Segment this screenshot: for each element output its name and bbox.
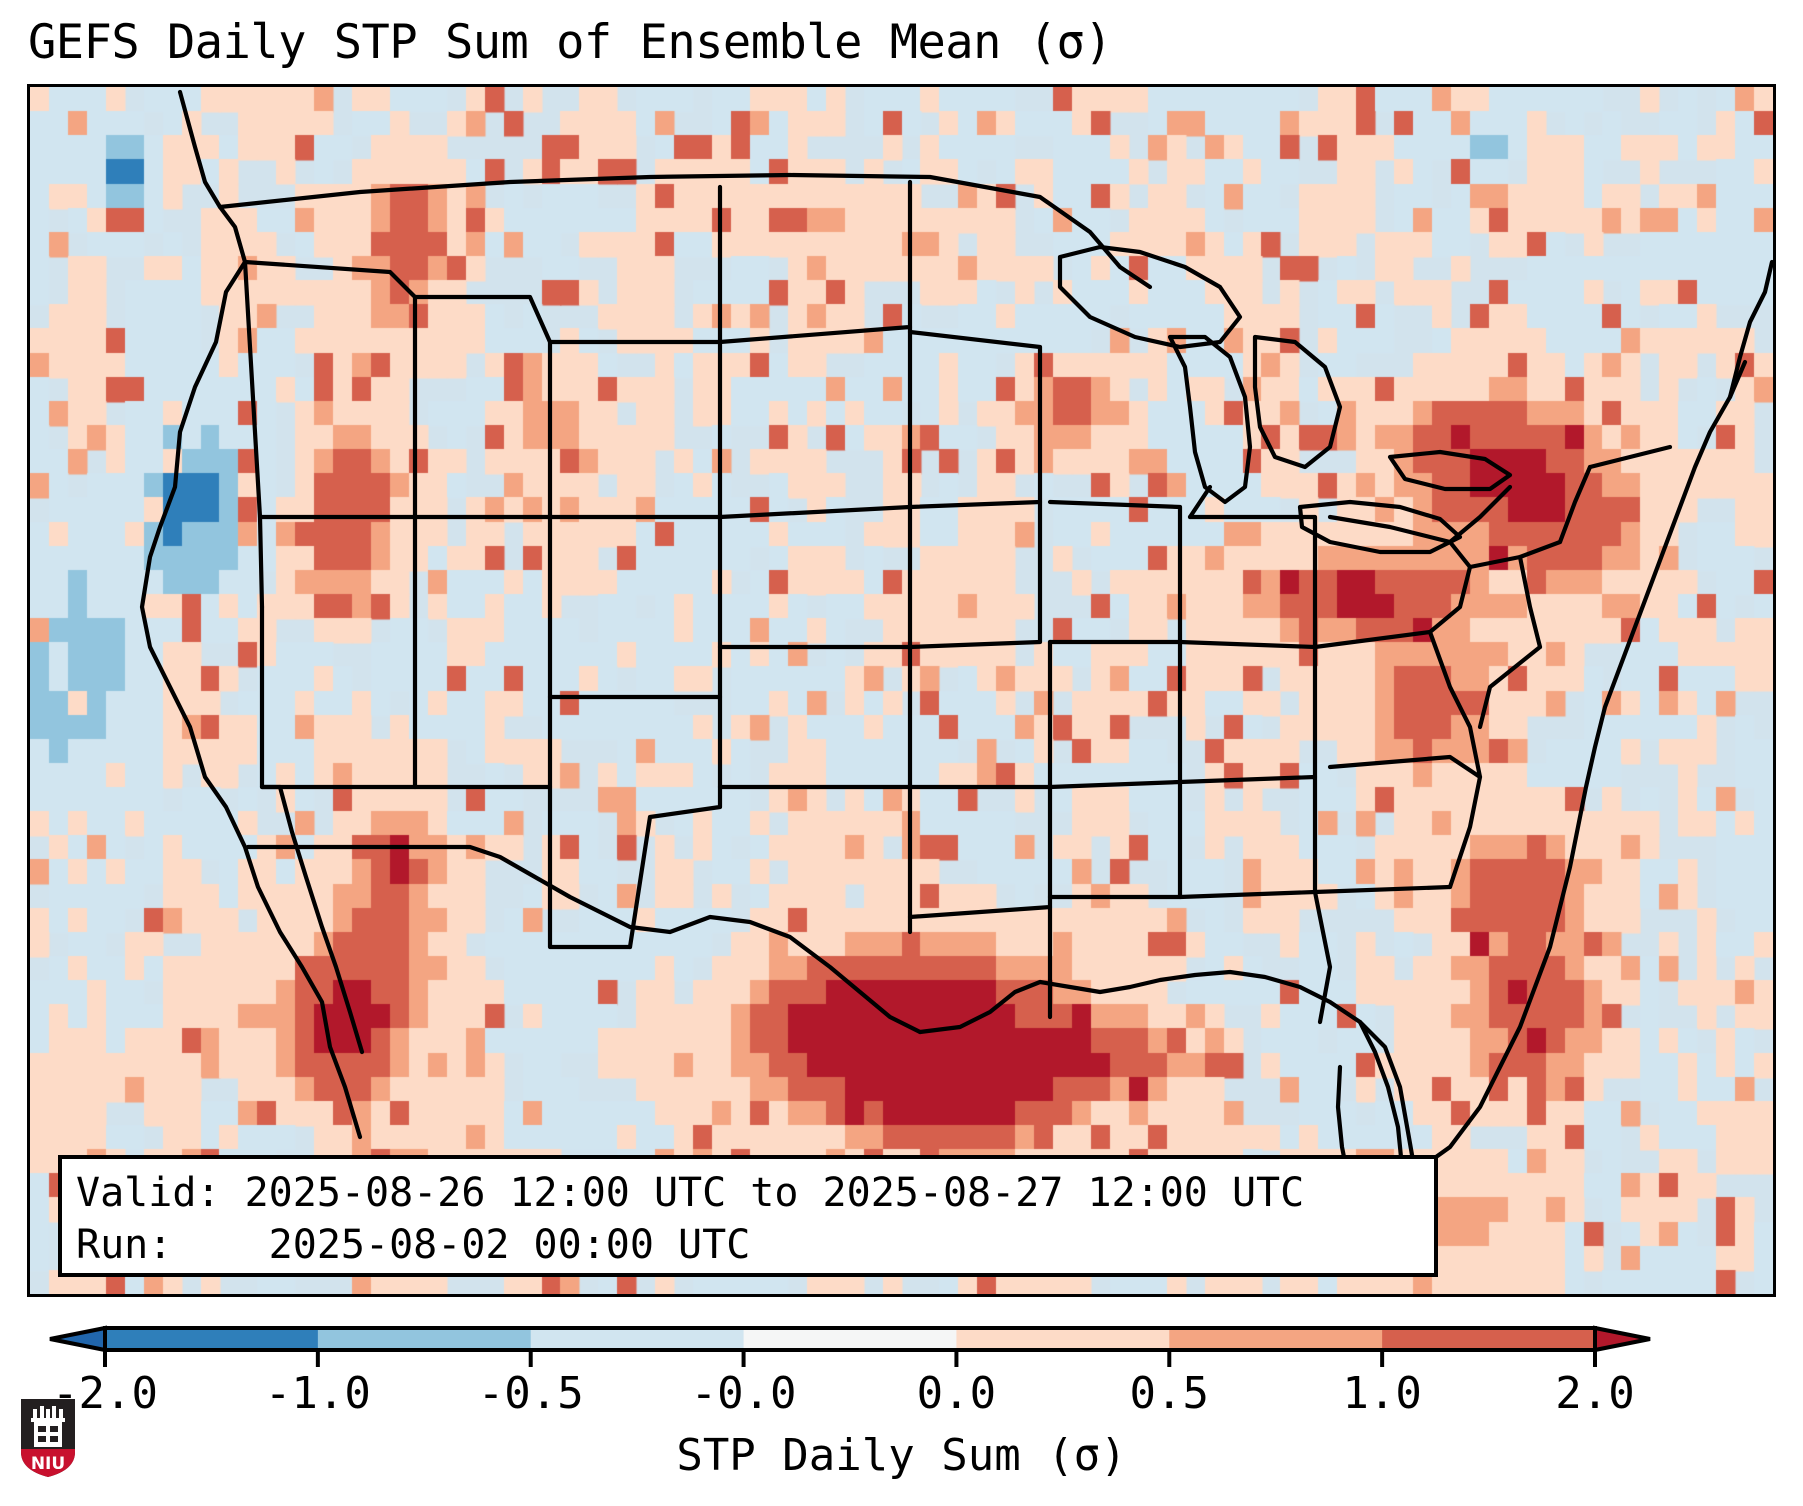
geography-path: [245, 262, 262, 607]
geography-path: [910, 787, 1050, 917]
geography-path: [1470, 542, 1560, 567]
geography-path: [720, 507, 910, 647]
geography-path: [910, 332, 1040, 507]
colorbar-tick-labels: -2.0-1.0-0.5-0.00.00.51.02.0: [0, 1368, 1803, 1428]
geography-path: [720, 182, 910, 342]
forecast-info-box: Valid: 2025-08-26 12:00 UTC to 2025-08-2…: [58, 1155, 1438, 1277]
niu-logo: NIU: [17, 1396, 79, 1480]
geography-path: [630, 697, 720, 947]
geography-path: [1050, 642, 1180, 787]
colorbar-swatches: [0, 1312, 1803, 1372]
colorbar-axis-label: STP Daily Sum (σ): [0, 1428, 1803, 1484]
colorbar-tick-label: 0.0: [917, 1368, 996, 1420]
geography-path: [1330, 757, 1480, 887]
colorbar-extend-high: [1595, 1328, 1650, 1350]
geography-path: [1255, 337, 1340, 467]
geography-path: [1480, 647, 1540, 727]
geography-path: [415, 297, 550, 517]
colorbar-tick-label: -0.0: [691, 1368, 797, 1420]
geography-path: [1390, 452, 1510, 489]
colorbar-tick-label: 1.0: [1342, 1368, 1421, 1420]
geography-path: [415, 787, 630, 947]
map-plot-area: [27, 84, 1776, 1297]
geography-path: [550, 187, 720, 342]
map-geography-outlines: [30, 87, 1773, 1294]
colorbar-band: [105, 1328, 318, 1350]
colorbar-tick-label: 2.0: [1555, 1368, 1634, 1420]
geography-path: [910, 502, 1040, 647]
geography-path: [280, 787, 362, 1052]
geography-path: [245, 262, 415, 517]
geography-path: [1050, 782, 1180, 897]
colorbar-band: [1382, 1328, 1595, 1350]
page-title: GEFS Daily STP Sum of Ensemble Mean (σ): [28, 14, 1528, 72]
geography-path: [1060, 247, 1240, 347]
geography-path: [720, 647, 910, 787]
geography-path: [1170, 337, 1250, 502]
geography-path: [550, 342, 720, 517]
geography-path: [415, 517, 550, 787]
colorbar-band: [318, 1328, 531, 1350]
geography-path: [1180, 777, 1315, 897]
colorbar-tick-label: -1.0: [265, 1368, 371, 1420]
colorbar-band: [956, 1328, 1169, 1350]
colorbar-band: [531, 1328, 744, 1350]
geography-path: [1590, 447, 1670, 467]
colorbar-extend-low: [50, 1328, 105, 1350]
geography-path: [1190, 517, 1315, 647]
geography-path: [262, 607, 280, 787]
run-time-line: Run: 2025-08-02 00:00 UTC: [76, 1219, 1434, 1271]
geography-path: [1180, 642, 1315, 777]
geography-path: [1315, 887, 1450, 892]
geography-path: [1050, 502, 1180, 642]
geography-path: [1520, 557, 1540, 647]
colorbar-band: [1169, 1328, 1382, 1350]
geography-path: [1450, 487, 1510, 542]
colorbar-band: [744, 1328, 957, 1350]
colorbar: [0, 1312, 1803, 1372]
valid-time-line: Valid: 2025-08-26 12:00 UTC to 2025-08-2…: [76, 1167, 1434, 1219]
figure-root: GEFS Daily STP Sum of Ensemble Mean (σ) …: [0, 0, 1803, 1506]
geography-path: [1315, 567, 1470, 647]
niu-logo-text: NIU: [31, 1454, 65, 1474]
geography-path: [142, 92, 360, 1137]
geography-path: [720, 327, 910, 517]
geography-path: [262, 517, 415, 787]
geography-path: [1190, 487, 1210, 517]
geography-path: [910, 642, 1050, 787]
geography-path: [550, 517, 720, 697]
geography-path: [1730, 262, 1772, 397]
geography-path: [1430, 632, 1480, 777]
colorbar-tick-label: 0.5: [1130, 1368, 1209, 1420]
colorbar-tick-label: -0.5: [478, 1368, 584, 1420]
geography-path: [1560, 467, 1590, 542]
